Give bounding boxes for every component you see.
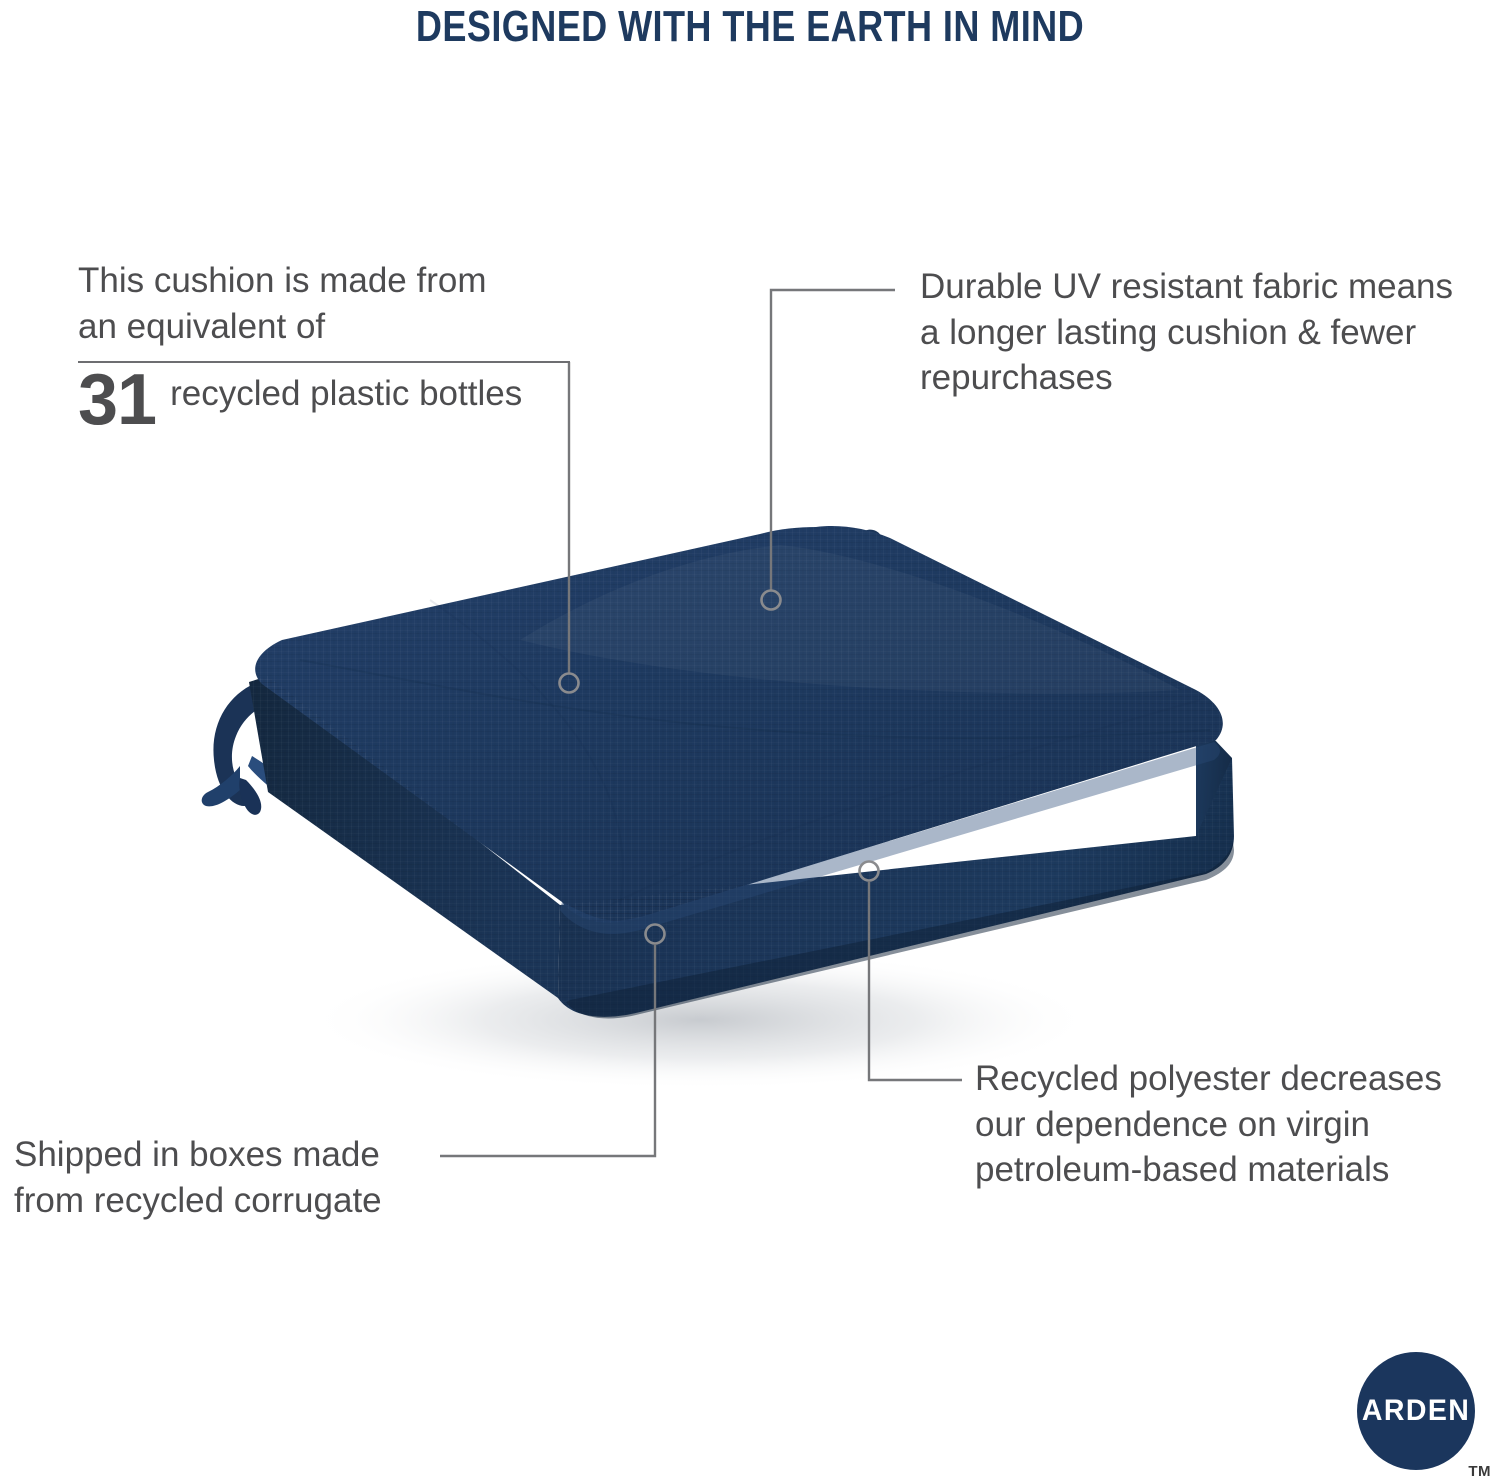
callout-recycled-corrugate: Shipped in boxes made from recycled corr…	[14, 1132, 444, 1223]
leader-bottom-left	[440, 925, 665, 1157]
leader-top-right	[762, 290, 896, 610]
callout-uv-resistant-fabric: Durable UV resistant fabric means a long…	[920, 264, 1460, 401]
leader-top-left	[560, 362, 579, 693]
brand-logo: ARDEN TM	[1357, 1352, 1489, 1484]
callout-recycled-polyester: Recycled polyester decreases our depende…	[975, 1056, 1475, 1193]
stat-number: 31	[78, 366, 156, 435]
callout-recycled-bottles-intro: This cushion is made from an equivalent …	[78, 258, 498, 349]
logo-wordmark: ARDEN	[1362, 1394, 1470, 1428]
logo-circle: ARDEN	[1357, 1352, 1475, 1470]
leader-bottom-right	[860, 862, 963, 1081]
leader-lines	[0, 0, 1500, 1484]
stat-recycled-bottles: 31 recycled plastic bottles	[78, 366, 522, 435]
trademark-icon: TM	[1468, 1463, 1491, 1480]
stat-label: recycled plastic bottles	[170, 366, 522, 416]
